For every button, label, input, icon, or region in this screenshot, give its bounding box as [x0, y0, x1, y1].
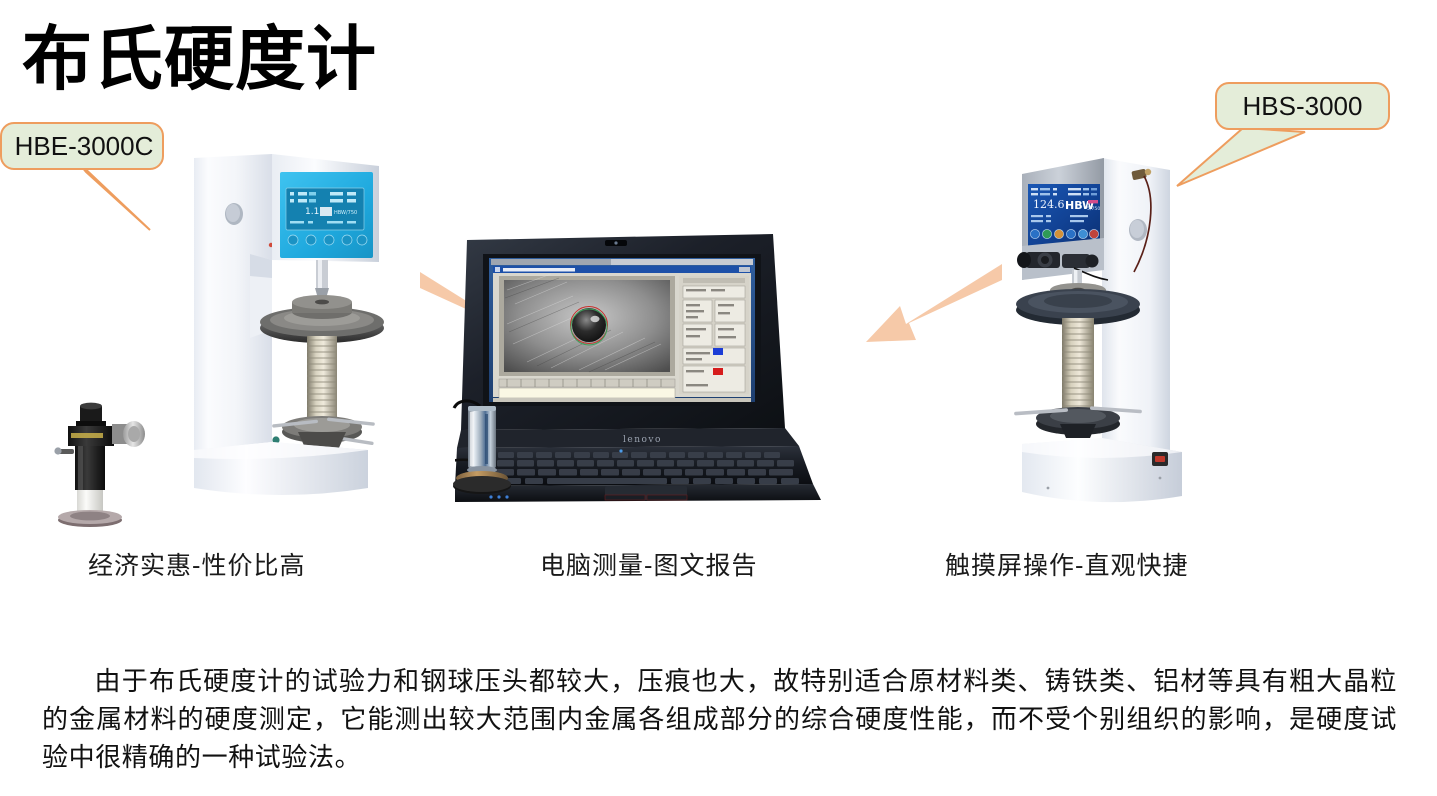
- svg-text:124.6: 124.6: [1033, 198, 1065, 211]
- callout-hbe-3000c: HBE-3000C: [0, 122, 250, 242]
- callout-hbe-label: HBE-3000C: [0, 122, 164, 170]
- caption-economical: 经济实惠-性价比高: [88, 546, 305, 582]
- page-title: 布氏硬度计: [22, 16, 377, 102]
- svg-text:HBW/750: HBW/750: [334, 210, 357, 216]
- usb-measurement-probe: [452, 398, 514, 496]
- svg-text:5/750: 5/750: [1087, 206, 1100, 212]
- caption-computer-measurement: 电脑测量-图文报告: [540, 546, 757, 582]
- body-paragraph: 由于布氏硬度计的试验力和钢球压头都较大，压痕也大，故特别适合原材料类、铸铁类、铝…: [42, 663, 1397, 777]
- arrow-right-to-laptop-icon: [852, 246, 1002, 366]
- svg-text:lenovo: lenovo: [623, 435, 662, 445]
- reading-microscope: [50, 402, 160, 530]
- callout-hbs-label: HBS-3000: [1215, 82, 1390, 130]
- svg-text:1.1: 1.1: [305, 207, 319, 217]
- paragraph-text: 由于布氏硬度计的试验力和钢球压头都较大，压痕也大，故特别适合原材料类、铸铁类、铝…: [42, 667, 1397, 773]
- caption-touchscreen: 触摸屏操作-直观快捷: [945, 546, 1188, 582]
- callout-hbs-3000: HBS-3000: [1195, 82, 1437, 192]
- right-hardness-tester-hbs-3000: 124.6 HBW 5/750: [1004, 152, 1204, 512]
